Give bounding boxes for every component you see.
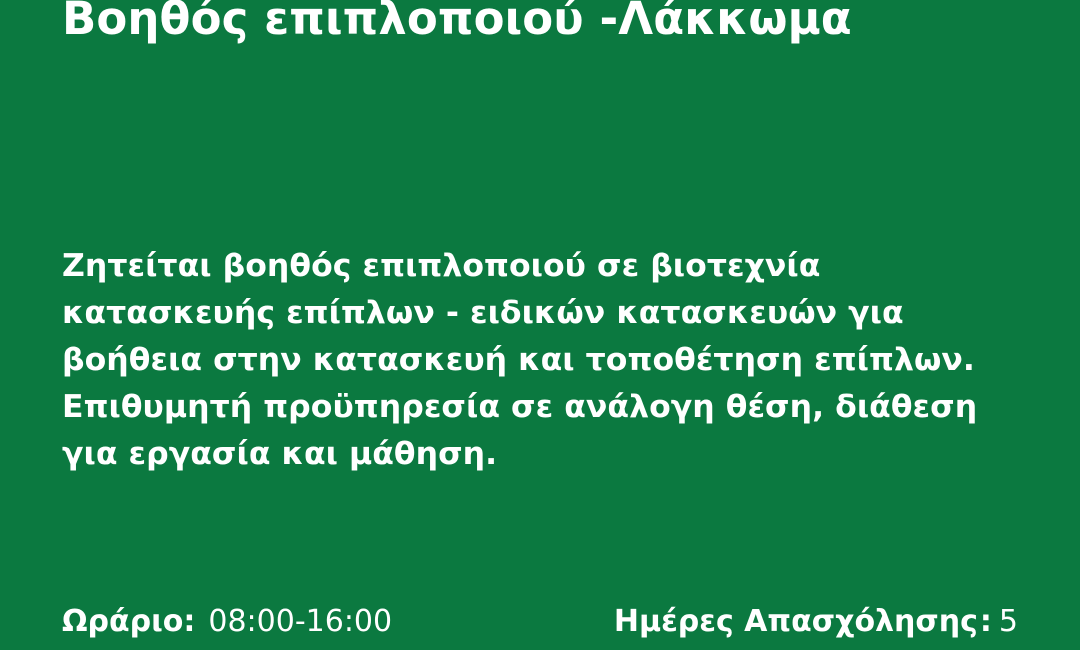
working-hours: Ωράριο: 08:00-16:00	[62, 602, 392, 642]
employment-days: Ημέρες Απασχόλησης : 5	[614, 602, 1018, 642]
working-hours-value: 08:00-16:00	[208, 602, 392, 642]
job-posting-card: Βοηθός επιπλοποιού -Λάκκωμα Ζητείται βοη…	[0, 0, 1080, 650]
employment-days-label: Ημέρες Απασχόλησης	[614, 602, 978, 642]
page-title: Βοηθός επιπλοποιού -Λάκκωμα	[62, 0, 1040, 45]
employment-days-separator: :	[980, 602, 992, 642]
employment-days-value: 5	[999, 602, 1018, 642]
working-hours-label: Ωράριο:	[62, 602, 195, 642]
card-footer: Ωράριο: 08:00-16:00 Ημέρες Απασχόλησης :…	[62, 588, 1018, 642]
job-description: Ζητείται βοηθός επιπλοποιού σε βιοτεχνία…	[62, 243, 1024, 478]
